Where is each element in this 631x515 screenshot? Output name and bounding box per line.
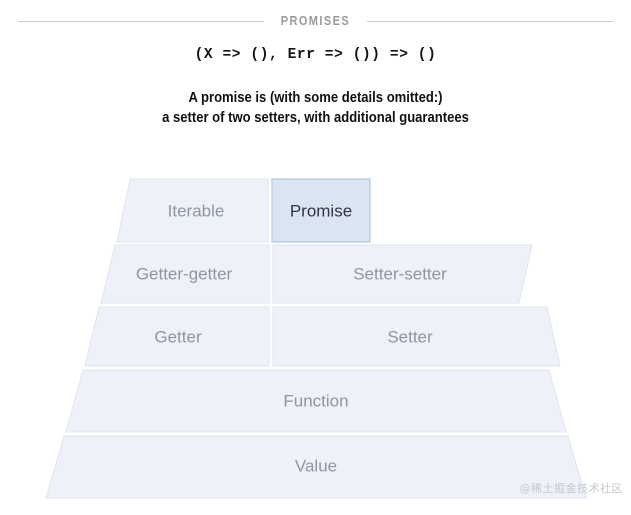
pyramid-row-3: Getter Setter [85, 307, 560, 366]
pyramid-diagram: Iterable Promise Getter-getter Setter-se… [0, 0, 631, 515]
pyramid-row-5: Value [46, 436, 586, 498]
pyramid-row-2: Getter-getter Setter-setter [101, 245, 532, 303]
pyramid-cell-label-value: Value [295, 456, 337, 475]
pyramid-row-1: Iterable Promise [117, 179, 370, 242]
pyramid-cell-label-promise: Promise [290, 201, 352, 220]
pyramid-row-4: Function [66, 370, 566, 432]
pyramid-cell-label-getter: Getter [154, 327, 202, 346]
pyramid-cell-label-setter: Setter [387, 327, 433, 346]
pyramid-svg: Iterable Promise Getter-getter Setter-se… [0, 0, 631, 515]
pyramid-cell-label-iterable: Iterable [168, 201, 225, 220]
pyramid-cell-label-setter-setter: Setter-setter [353, 264, 447, 283]
watermark: @稀土掘金技术社区 [520, 480, 624, 496]
pyramid-cell-label-getter-getter: Getter-getter [136, 264, 233, 283]
pyramid-cell-label-function: Function [283, 391, 348, 410]
